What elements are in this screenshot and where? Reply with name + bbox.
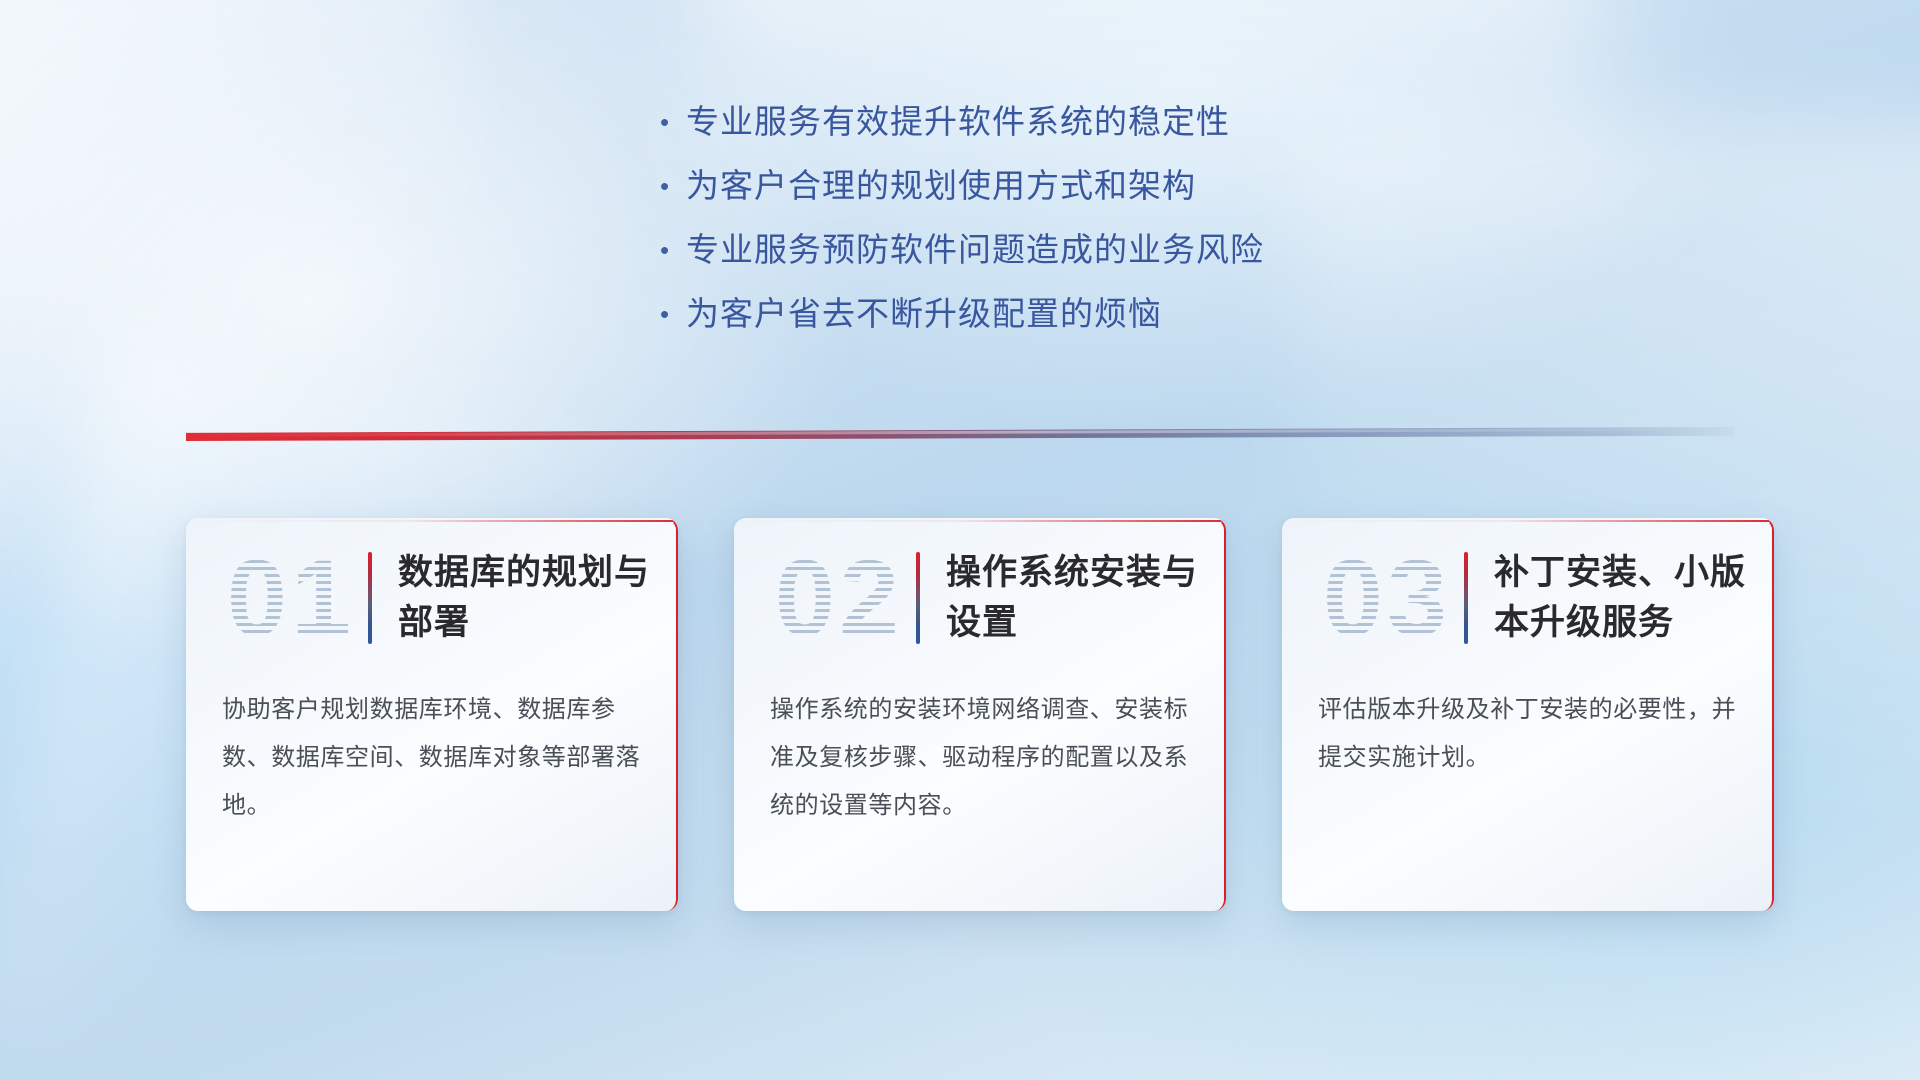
list-item: • 为客户省去不断升级配置的烦恼 — [660, 292, 1420, 356]
card-title: 补丁安装、小版本升级服务 — [1494, 548, 1774, 648]
bullet-dot-icon: • — [660, 164, 686, 208]
service-card-03[interactable]: 03 补丁安装、小版本升级服务 评估版本升级及补丁安装的必要性，并提交实施计划。 — [1282, 518, 1774, 911]
bullet-text: 专业服务有效提升软件系统的稳定性 — [686, 100, 1230, 144]
card-header: 01 数据库的规划与部署 — [186, 518, 678, 678]
service-card-list: 01 数据库的规划与部署 协助客户规划数据库环境、数据库参数、数据库空间、数据库… — [186, 518, 1774, 911]
bullet-dot-icon: • — [660, 228, 686, 272]
list-item: • 专业服务预防软件问题造成的业务风险 — [660, 228, 1420, 292]
card-header: 02 操作系统安装与设置 — [734, 518, 1226, 678]
service-card-02[interactable]: 02 操作系统安装与设置 操作系统的安装环境网络调查、安装标准及复核步骤、驱动程… — [734, 518, 1226, 911]
card-body-text: 协助客户规划数据库环境、数据库参数、数据库空间、数据库对象等部署落地。 — [186, 678, 678, 830]
section-divider — [186, 427, 1734, 441]
card-number-watermark: 02 — [768, 539, 910, 657]
card-title-separator — [368, 552, 372, 644]
service-card-01[interactable]: 01 数据库的规划与部署 协助客户规划数据库环境、数据库参数、数据库空间、数据库… — [186, 518, 678, 911]
slide-root: • 专业服务有效提升软件系统的稳定性 • 为客户合理的规划使用方式和架构 • 专… — [0, 0, 1920, 1080]
bullet-dot-icon: • — [660, 100, 686, 144]
bullet-dot-icon: • — [660, 292, 686, 336]
card-number-watermark: 03 — [1316, 539, 1458, 657]
card-number-watermark: 01 — [220, 539, 362, 657]
bullet-text: 为客户省去不断升级配置的烦恼 — [686, 292, 1162, 336]
card-title-separator — [916, 552, 920, 644]
bullet-text: 专业服务预防软件问题造成的业务风险 — [686, 228, 1264, 272]
card-header: 03 补丁安装、小版本升级服务 — [1282, 518, 1774, 678]
list-item: • 为客户合理的规划使用方式和架构 — [660, 164, 1420, 228]
benefits-bullet-list: • 专业服务有效提升软件系统的稳定性 • 为客户合理的规划使用方式和架构 • 专… — [660, 100, 1420, 356]
list-item: • 专业服务有效提升软件系统的稳定性 — [660, 100, 1420, 164]
bullet-text: 为客户合理的规划使用方式和架构 — [686, 164, 1196, 208]
card-body-text: 操作系统的安装环境网络调查、安装标准及复核步骤、驱动程序的配置以及系统的设置等内… — [734, 678, 1226, 830]
card-title: 数据库的规划与部署 — [398, 548, 678, 648]
card-body-text: 评估版本升级及补丁安装的必要性，并提交实施计划。 — [1282, 678, 1774, 782]
card-title-separator — [1464, 552, 1468, 644]
card-title: 操作系统安装与设置 — [946, 548, 1226, 648]
